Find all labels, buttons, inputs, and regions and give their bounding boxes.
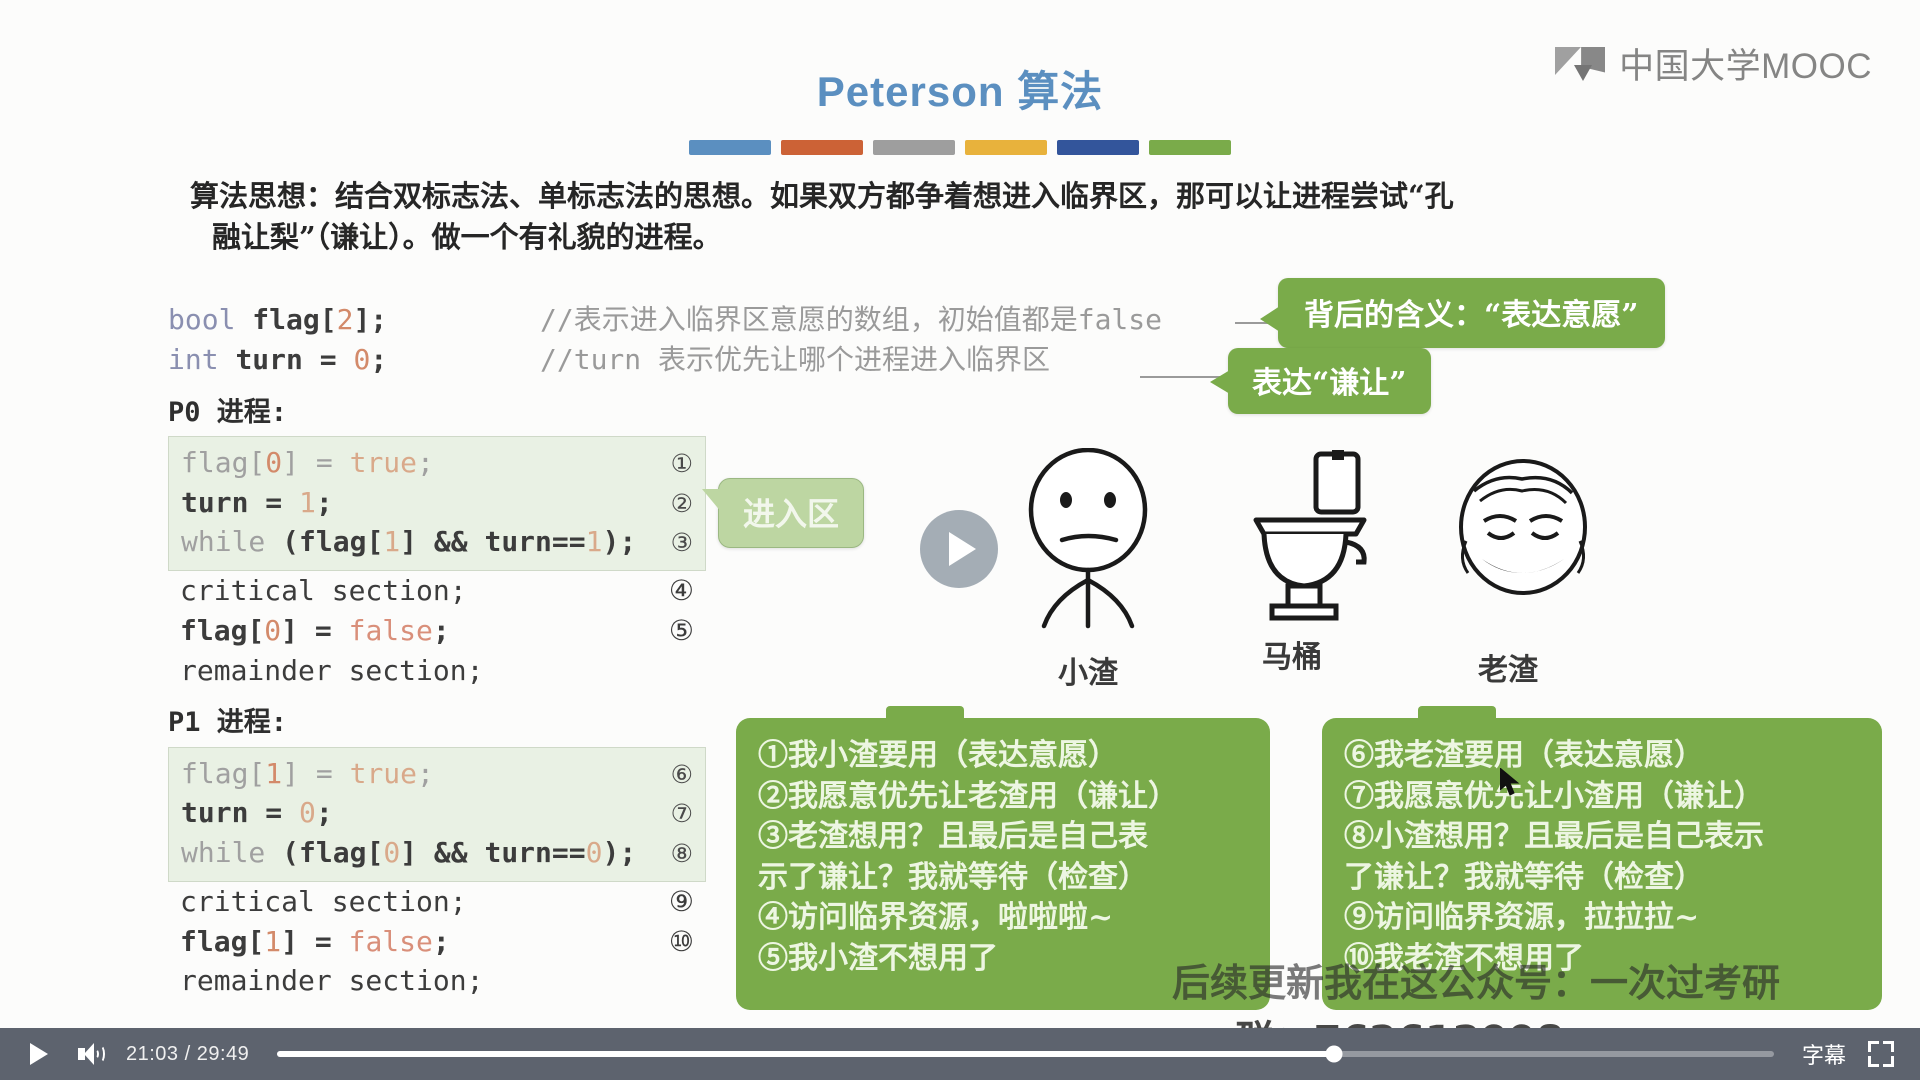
troll-face-laozha-icon: [1448, 455, 1598, 630]
declaration-comment-0: //表示进入临界区意愿的数组，初始值都是false: [540, 300, 1162, 340]
video-player-stage: 中国大学MOOC Peterson 算法 算法思想：结合双标志法、单标志法的思想…: [0, 0, 1920, 1080]
callout-yield-text: 表达“谦让”: [1252, 366, 1407, 401]
code-text: flag[1] = false;: [180, 922, 450, 962]
accent-bar-5: [1057, 140, 1139, 155]
doodle-label-middle: 马桶: [1262, 632, 1322, 676]
title-cn: 算法: [1017, 68, 1103, 115]
code-line: critical section; ⑨: [168, 882, 706, 922]
volume-icon: [78, 1043, 104, 1065]
declaration-code-0: bool flag[2];: [168, 300, 540, 340]
exit-fullscreen-icon: [1868, 1041, 1894, 1067]
step-marker: ④: [669, 571, 694, 611]
code-line: turn = 0; ⑦: [181, 793, 693, 833]
doodle-label-right: 老渣: [1478, 645, 1538, 689]
subtitle-button[interactable]: 字幕: [1802, 1038, 1846, 1070]
play-icon: [949, 532, 976, 566]
code-text: flag[0] = true;: [181, 443, 434, 483]
accent-bar-6: [1149, 140, 1231, 155]
code-line: while (flag[0] && turn==0); ⑧: [181, 833, 693, 873]
watermark-followup: 后续更新我在这公众号：一次过考研: [1172, 952, 1780, 1007]
algorithm-idea-paragraph: 算法思想：结合双标志法、单标志法的思想。如果双方都争着想进入临界区，那可以让进程…: [190, 176, 1800, 258]
story-line: ①我小渣要用（表达意愿）: [758, 736, 1248, 777]
volume-button[interactable]: [74, 1037, 108, 1071]
accent-bar-1: [689, 140, 771, 155]
step-marker: ①: [671, 446, 693, 482]
p1-entry-section: flag[1] = true; ⑥ turn = 0; ⑦ while (fla…: [168, 747, 706, 882]
exit-fullscreen-button[interactable]: [1864, 1037, 1898, 1071]
code-text: turn = 1;: [181, 483, 333, 523]
callout-entry-zone-text: 进入区: [743, 495, 839, 533]
declaration-row: bool flag[2]; //表示进入临界区意愿的数组，初始值都是false: [168, 300, 1162, 340]
step-marker: ⑥: [671, 757, 693, 793]
intro-line-2: 融让梨”（谦让）。做一个有礼貌的进程。: [190, 217, 1800, 258]
declaration-row: int turn = 0; //turn 表示优先让哪个进程进入临界区: [168, 340, 1162, 380]
callout-meaning-text: 背后的含义：“表达意愿”: [1304, 298, 1639, 333]
code-text: critical section;: [180, 882, 467, 922]
progress-bar[interactable]: [277, 1051, 1774, 1057]
code-text: critical section;: [180, 571, 467, 611]
callout-meaning: 背后的含义：“表达意愿”: [1278, 278, 1665, 348]
story-line: ⑧小渣想用？且最后是自己表示: [1344, 817, 1860, 858]
accent-bar-4: [965, 140, 1047, 155]
story-line: ②我愿意优先让老渣用（谦让）: [758, 777, 1248, 818]
code-line: turn = 1; ②: [181, 483, 693, 523]
step-marker: ⑧: [671, 836, 693, 872]
play-icon: [30, 1043, 48, 1065]
code-text: remainder section;: [180, 961, 483, 1001]
code-line: while (flag[1] && turn==1); ③: [181, 522, 693, 562]
step-marker: ⑨: [669, 882, 694, 922]
story-line: ⑥我老渣要用（表达意愿）: [1344, 736, 1860, 777]
code-text: turn = 0;: [181, 793, 333, 833]
accent-bar-2: [781, 140, 863, 155]
story-line: 示了谦让？我就等待（检查）: [758, 858, 1248, 899]
story-line: ⑦我愿意优先让小渣用（谦让）: [1344, 777, 1860, 818]
code-line: flag[1] = true; ⑥: [181, 754, 693, 794]
title-en: Peterson: [817, 68, 1005, 115]
story-line: ⑨访问临界资源，拉拉拉~: [1344, 898, 1860, 939]
center-play-button[interactable]: [920, 510, 998, 588]
step-marker: ⑩: [669, 922, 694, 962]
intro-line-1: 算法思想：结合双标志法、单标志法的思想。如果双方都争着想进入临界区，那可以让进程…: [190, 179, 1454, 213]
code-line: flag[1] = false; ⑩: [168, 922, 706, 962]
code-line: flag[0] = true; ①: [181, 443, 693, 483]
p0-entry-section: flag[0] = true; ① turn = 1; ② while (fla…: [168, 436, 706, 571]
accent-bar-3: [873, 140, 955, 155]
step-marker: ②: [671, 486, 693, 522]
step-marker: ⑦: [671, 796, 693, 832]
callout-entry-zone: 进入区: [718, 478, 864, 548]
code-line: remainder section;: [168, 651, 706, 691]
story-line: ④访问临界资源，啦啦啦~: [758, 898, 1248, 939]
code-text: flag[1] = true;: [181, 754, 434, 794]
title-accent-bars: [689, 140, 1231, 155]
declaration-comment-1: //turn 表示优先让哪个进程进入临界区: [540, 340, 1050, 380]
toilet-icon: [1238, 450, 1388, 625]
progress-played: [277, 1051, 1334, 1057]
story-line: ③老渣想用？且最后是自己表: [758, 817, 1248, 858]
slide-canvas: 中国大学MOOC Peterson 算法 算法思想：结合双标志法、单标志法的思想…: [0, 0, 1920, 1080]
code-text: while (flag[0] && turn==0);: [181, 833, 636, 873]
step-marker: ⑤: [669, 611, 694, 651]
time-display: 21:03 / 29:49: [126, 1043, 249, 1066]
doodle-label-left: 小渣: [1058, 648, 1118, 692]
play-button[interactable]: [22, 1037, 56, 1071]
code-line: flag[0] = false; ⑤: [168, 611, 706, 651]
stick-figure-xiaozha-icon: [1010, 448, 1180, 638]
code-text: flag[0] = false;: [180, 611, 450, 651]
process-label-p0: P0 进程:: [168, 394, 1162, 432]
code-text: remainder section;: [180, 651, 483, 691]
code-line: critical section; ④: [168, 571, 706, 611]
code-line: remainder section;: [168, 961, 706, 1001]
mouse-cursor-icon: [1500, 768, 1522, 798]
declaration-code-1: int turn = 0;: [168, 340, 540, 380]
player-control-bar: 21:03 / 29:49 字幕: [0, 1028, 1920, 1080]
step-marker: ③: [671, 525, 693, 561]
callout-yield: 表达“谦让”: [1228, 348, 1431, 414]
story-line: 了谦让？我就等待（检查）: [1344, 858, 1860, 899]
page-title: Peterson 算法: [0, 58, 1920, 119]
code-text: while (flag[1] && turn==1);: [181, 522, 636, 562]
progress-handle[interactable]: [1325, 1046, 1342, 1063]
